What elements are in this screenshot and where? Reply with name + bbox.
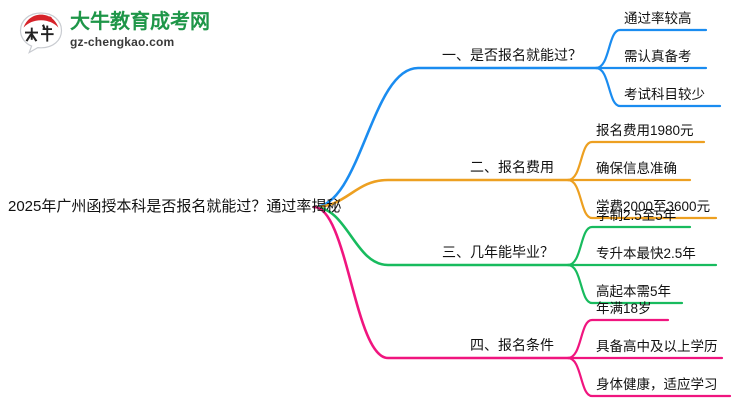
branch-node-1: 一、是否报名就能过？ xyxy=(442,47,582,64)
leaf-node-3-2: 专升本最快2.5年 xyxy=(596,246,696,262)
leaf-node-4-3: 身体健康，适应学习 xyxy=(596,377,718,393)
leaf-node-1-1: 通过率较高 xyxy=(624,11,692,27)
mindmap-edge xyxy=(314,68,596,207)
branch-node-4: 四、报名条件 xyxy=(470,337,554,354)
leaf-node-1-2: 需认真备考 xyxy=(624,49,692,65)
leaf-node-4-1: 年满18岁 xyxy=(596,301,652,317)
root-node-label: 2025年广州函授本科是否报名就能过？通过率揭秘 xyxy=(8,198,341,216)
leaf-node-2-1: 报名费用1980元 xyxy=(596,123,694,139)
leaf-node-3-1: 学制2.5至5年 xyxy=(596,208,676,224)
leaf-node-2-2: 确保信息准确 xyxy=(596,161,677,177)
branch-node-2: 二、报名费用 xyxy=(470,159,554,176)
mindmap-canvas: 大牛教育成考网 gz-chengkao.com 2025年广州函授本科是否报名就… xyxy=(0,0,750,410)
mindmap-edge xyxy=(314,207,568,358)
leaf-node-1-3: 考试科目较少 xyxy=(624,87,705,103)
mindmap-edge xyxy=(314,180,568,207)
leaf-node-4-2: 具备高中及以上学历 xyxy=(596,339,718,355)
leaf-node-3-3: 高起本需5年 xyxy=(596,284,671,300)
branch-node-3: 三、几年能毕业？ xyxy=(442,244,554,261)
